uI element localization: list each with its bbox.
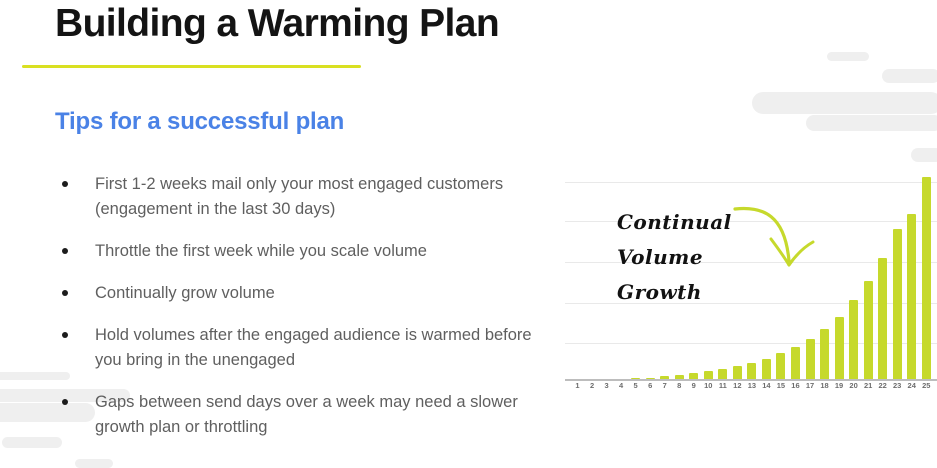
blob-left-5 xyxy=(75,459,113,468)
blob-top-right-3 xyxy=(752,92,937,114)
blob-top-right-1 xyxy=(827,52,869,61)
chart-x-tick-label: 14 xyxy=(762,381,771,390)
chart-x-tick-label: 21 xyxy=(864,381,873,390)
chart-x-tick-label: 17 xyxy=(806,381,815,390)
bullet-dot-icon xyxy=(62,290,68,296)
chart-x-tick-label: 12 xyxy=(733,381,742,390)
chart-bar xyxy=(878,258,887,380)
blob-top-right-5 xyxy=(911,148,937,162)
chart-bar xyxy=(907,214,916,380)
list-item-label: First 1-2 weeks mail only your most enga… xyxy=(95,172,562,222)
bullet-dot-icon xyxy=(62,248,68,254)
chart-bar xyxy=(835,317,844,380)
blob-left-1 xyxy=(0,372,70,380)
blob-top-right-4 xyxy=(806,115,937,131)
chart-x-tick-label: 1 xyxy=(573,381,582,390)
list-item: First 1-2 weeks mail only your most enga… xyxy=(62,172,562,222)
list-item-label: Continually grow volume xyxy=(95,281,275,306)
chart-x-tick-label: 6 xyxy=(646,381,655,390)
chart-x-tick-label: 22 xyxy=(878,381,887,390)
chart-bar xyxy=(806,339,815,380)
chart-bar xyxy=(733,366,742,380)
chart-x-tick-label: 25 xyxy=(922,381,931,390)
bullet-dot-icon xyxy=(62,332,68,338)
chart-x-tick-label: 15 xyxy=(776,381,785,390)
chart-x-tick-label: 9 xyxy=(689,381,698,390)
title-underline-rule xyxy=(22,65,361,68)
chart-x-tick-label: 11 xyxy=(718,381,727,390)
chart-bar xyxy=(864,281,873,380)
chart-annotation-text: Continual Volume Growth xyxy=(617,205,732,310)
list-item: Continually grow volume xyxy=(62,281,562,306)
chart-bar xyxy=(849,300,858,380)
chart-x-tick-label: 3 xyxy=(602,381,611,390)
chart-x-tick-label: 2 xyxy=(588,381,597,390)
blob-top-right-2 xyxy=(882,69,937,83)
curved-down-arrow-icon xyxy=(733,203,828,278)
list-item-label: Hold volumes after the engaged audience … xyxy=(95,323,562,373)
list-item: Throttle the first week while you scale … xyxy=(62,239,562,264)
page-title: Building a Warming Plan xyxy=(55,2,499,46)
bullet-dot-icon xyxy=(62,181,68,187)
list-item: Gaps between send days over a week may n… xyxy=(62,390,562,440)
chart-x-tick-label: 18 xyxy=(820,381,829,390)
chart-bar xyxy=(762,359,771,380)
chart-x-tick-labels: 1234567891011121314151617181920212223242… xyxy=(573,381,931,390)
chart-x-tick-label: 13 xyxy=(747,381,756,390)
chart-bar xyxy=(922,177,931,380)
chart-bar xyxy=(747,363,756,380)
chart-x-tick-label: 16 xyxy=(791,381,800,390)
chart-bar xyxy=(791,347,800,380)
chart-x-tick-label: 20 xyxy=(849,381,858,390)
chart-x-tick-label: 23 xyxy=(893,381,902,390)
chart-x-tick-label: 19 xyxy=(835,381,844,390)
chart-bar xyxy=(893,229,902,380)
chart-bar xyxy=(820,329,829,380)
chart-x-tick-label: 4 xyxy=(617,381,626,390)
list-item: Hold volumes after the engaged audience … xyxy=(62,323,562,373)
chart-x-tick-label: 10 xyxy=(704,381,713,390)
chart-x-tick-label: 24 xyxy=(907,381,916,390)
section-subtitle: Tips for a successful plan xyxy=(55,108,344,136)
slide-canvas: Building a Warming Plan Tips for a succe… xyxy=(0,0,937,468)
bullet-dot-icon xyxy=(62,399,68,405)
list-item-label: Throttle the first week while you scale … xyxy=(95,239,427,264)
chart-x-tick-label: 7 xyxy=(660,381,669,390)
list-item-label: Gaps between send days over a week may n… xyxy=(95,390,562,440)
tips-bullet-list: First 1-2 weeks mail only your most enga… xyxy=(62,172,562,457)
chart-x-tick-label: 5 xyxy=(631,381,640,390)
blob-left-4 xyxy=(2,437,62,448)
chart-bar xyxy=(776,353,785,380)
chart-x-tick-label: 8 xyxy=(675,381,684,390)
